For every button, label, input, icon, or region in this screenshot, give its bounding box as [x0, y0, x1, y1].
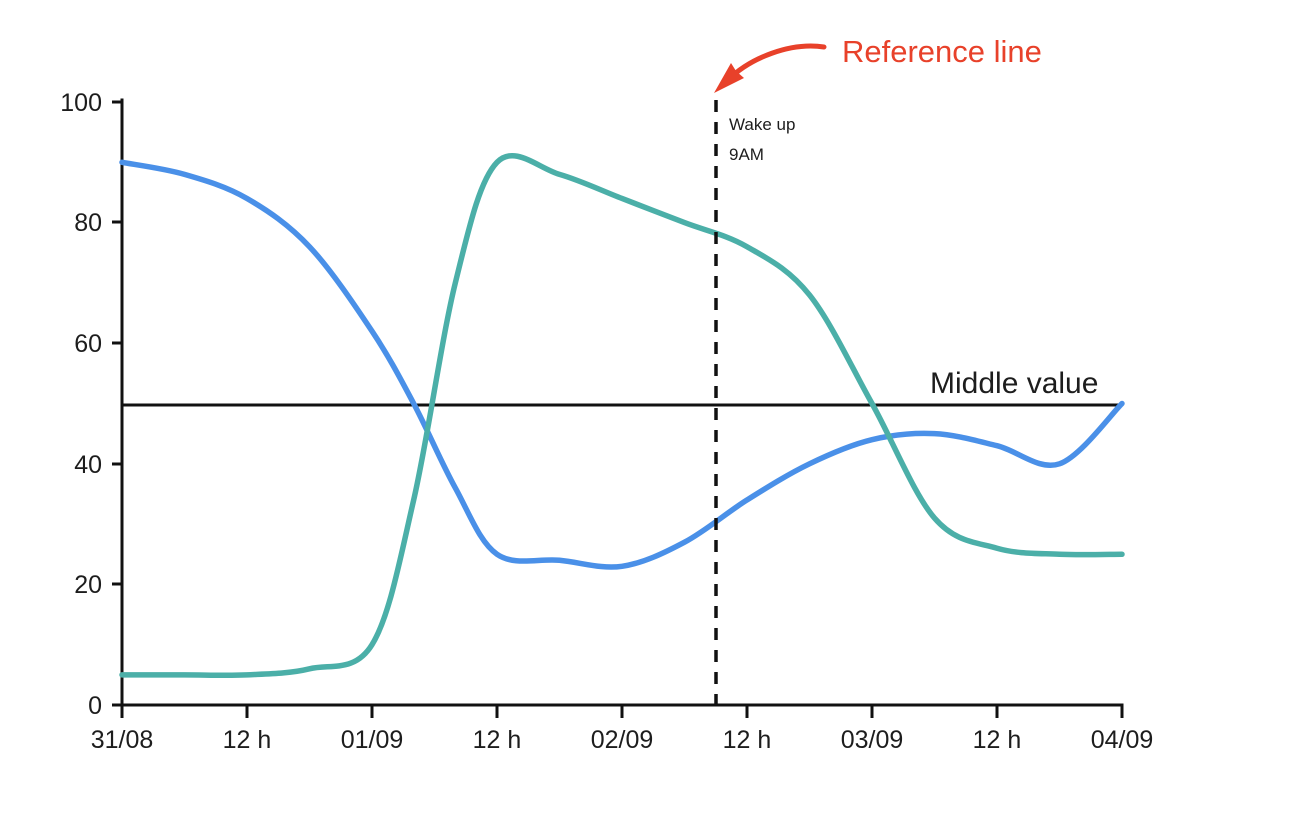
y-tick-label-40: 40 — [74, 451, 102, 479]
y-tick-label-20: 20 — [74, 571, 102, 599]
x-tick-label-2: 01/09 — [341, 726, 404, 754]
x-tick-label-7: 12 h — [973, 726, 1022, 754]
y-tick-label-100: 100 — [60, 89, 102, 117]
y-axis-ticks: 0 20 40 60 80 100 — [60, 89, 122, 720]
callout-arrow-icon — [728, 46, 824, 80]
reference-line-callout: Reference line — [714, 34, 1042, 93]
x-tick-label-3: 12 h — [473, 726, 522, 754]
y-tick-label-80: 80 — [74, 209, 102, 237]
series-line-teal — [122, 156, 1122, 676]
x-axis-ticks: 31/08 12 h 01/09 12 h 02/09 12 h 03/09 1… — [91, 705, 1154, 754]
x-tick-label-1: 12 h — [223, 726, 272, 754]
y-tick-label-60: 60 — [74, 330, 102, 358]
series-line-blue — [122, 162, 1122, 567]
wake-up-label-line1: Wake up — [729, 115, 795, 134]
middle-value-label: Middle value — [930, 367, 1098, 400]
x-tick-label-4: 02/09 — [591, 726, 654, 754]
line-chart: 0 20 40 60 80 100 31/08 12 h 01/09 12 h … — [0, 0, 1290, 822]
wake-up-label-line2: 9AM — [729, 145, 764, 164]
callout-label: Reference line — [842, 34, 1042, 69]
x-tick-label-5: 12 h — [723, 726, 772, 754]
x-tick-label-8: 04/09 — [1091, 726, 1154, 754]
x-tick-label-6: 03/09 — [841, 726, 904, 754]
x-tick-label-0: 31/08 — [91, 726, 154, 754]
chart-container: 0 20 40 60 80 100 31/08 12 h 01/09 12 h … — [0, 0, 1290, 822]
y-tick-label-0: 0 — [88, 692, 102, 720]
